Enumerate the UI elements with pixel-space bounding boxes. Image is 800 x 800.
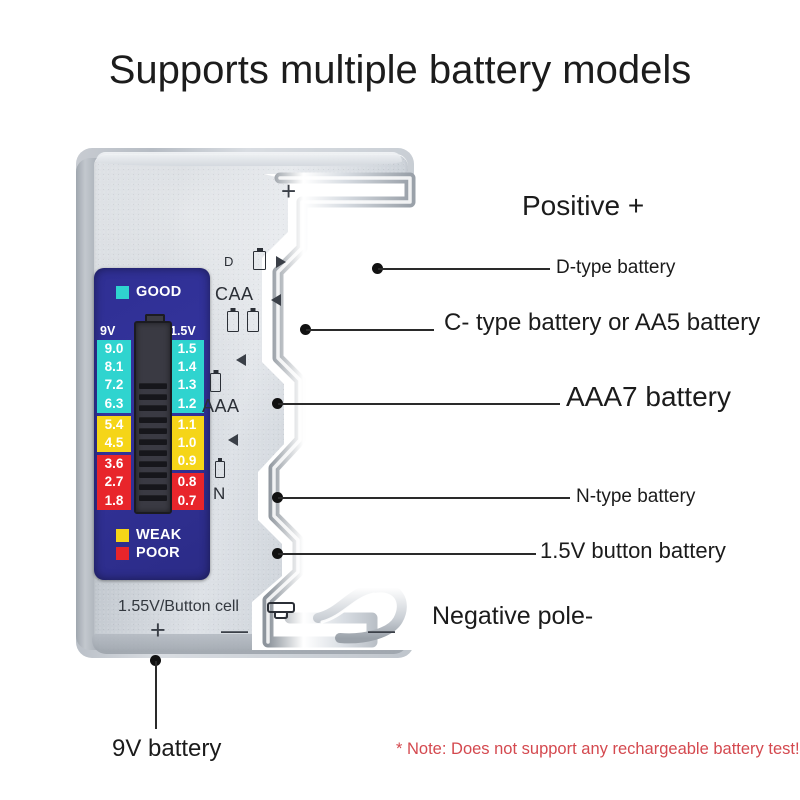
legend-weak-swatch xyxy=(116,529,129,542)
scale-tick: 6.3 xyxy=(97,395,131,413)
slot-label-caa: CAA xyxy=(215,284,254,305)
voltage-scale-1v5: 1.5 1.4 1.3 1.2 1.1 1.0 0.9 0.8 0.7 xyxy=(170,340,204,510)
callout-c-type: C- type battery or AA5 battery xyxy=(444,309,760,337)
leader-line-d-type xyxy=(378,268,550,270)
scale-tick: 8.1 xyxy=(97,358,131,376)
leader-line-n-type xyxy=(278,497,570,499)
scale-tick: 1.5 xyxy=(170,340,204,358)
callout-9v-battery: 9V battery xyxy=(112,735,221,763)
legend-weak: WEAK xyxy=(116,527,182,543)
callout-d-type: D-type battery xyxy=(556,257,675,279)
battery-icon-body xyxy=(210,373,221,392)
legend-good-swatch xyxy=(116,286,129,299)
gauge-segment xyxy=(139,383,167,389)
gauge-segment xyxy=(139,372,167,378)
gauge-segment xyxy=(139,405,167,411)
scale-tick: 1.2 xyxy=(170,395,204,413)
caa-battery-icon-1 xyxy=(227,308,239,332)
page-title: Supports multiple battery models xyxy=(0,48,800,93)
legend-poor-swatch xyxy=(116,547,129,560)
insert-arrow-left-icon-n xyxy=(228,434,238,446)
gauge-segment xyxy=(139,394,167,400)
legend-weak-label: WEAK xyxy=(136,527,182,543)
gauge-segment xyxy=(139,472,167,478)
lcd-display: GOOD 9V 1.5V 9.0 8.1 7.2 6.3 5.4 4.5 3.6… xyxy=(94,268,210,580)
scale-tick: 1.0 xyxy=(170,434,204,452)
gauge-segment xyxy=(139,439,167,445)
button-cell-marking: 1.55V/Button cell xyxy=(118,598,239,616)
legend-good-label: GOOD xyxy=(136,284,182,300)
scale-tick: 1.8 xyxy=(97,492,131,510)
legend-poor: POOR xyxy=(116,545,180,561)
slot-label-aaa: AAA xyxy=(202,396,240,417)
scale-header-9v: 9V xyxy=(100,324,115,338)
legend-poor-label: POOR xyxy=(136,545,180,561)
battery-icon-body xyxy=(227,311,239,332)
polarity-plus-top-marking: + xyxy=(281,176,296,207)
scale-tick: 5.4 xyxy=(97,416,131,434)
gauge-segment xyxy=(139,484,167,490)
voltage-scale-9v: 9.0 8.1 7.2 6.3 5.4 4.5 3.6 2.7 1.8 xyxy=(97,340,131,510)
scale-tick: 0.9 xyxy=(170,452,204,470)
slot-label-n: N xyxy=(213,484,225,504)
lcd-battery-gauge-icon xyxy=(134,314,172,514)
battery-contact-arm xyxy=(222,172,422,652)
scale-tick: 1.1 xyxy=(170,416,204,434)
scale-tick: 0.8 xyxy=(170,473,204,491)
polarity-plus-bottom-marking: + xyxy=(150,615,166,646)
polarity-minus-right-marking: — xyxy=(368,615,395,646)
diagram-canvas: Supports multiple battery models xyxy=(0,0,800,800)
aaa-battery-icon xyxy=(210,370,221,392)
gauge-segment xyxy=(139,349,167,355)
legend-good: GOOD xyxy=(116,284,182,300)
gauge-segment xyxy=(139,361,167,367)
gauge-segment xyxy=(139,327,167,333)
scale-tick: 1.3 xyxy=(170,376,204,394)
caa-battery-icon-2 xyxy=(247,308,259,332)
callout-negative-pole: Negative pole- xyxy=(432,602,593,631)
scale-tick: 0.7 xyxy=(170,492,204,510)
scale-tick: 2.7 xyxy=(97,473,131,491)
gauge-segment xyxy=(139,450,167,456)
insert-arrow-right-icon xyxy=(276,256,286,268)
callout-aaa7: AAA7 battery xyxy=(566,381,731,413)
n-battery-icon xyxy=(215,458,225,478)
leader-line-c-type xyxy=(306,329,434,331)
gauge-segment xyxy=(139,461,167,467)
scale-tick: 7.2 xyxy=(97,376,131,394)
battery-icon-body xyxy=(215,461,225,478)
callout-n-type: N-type battery xyxy=(576,486,695,508)
callout-button-15v: 1.5V button battery xyxy=(540,538,726,564)
polarity-minus-bottom-marking: — xyxy=(221,615,248,646)
battery-icon-body xyxy=(247,311,259,332)
leader-line-aaa7 xyxy=(278,403,560,405)
gauge-segment xyxy=(139,417,167,423)
insert-arrow-left-icon-caa xyxy=(271,294,281,306)
leader-line-button15 xyxy=(278,553,536,555)
gauge-segment xyxy=(139,495,167,501)
battery-icon-body xyxy=(253,251,266,270)
d-battery-icon xyxy=(253,248,266,270)
scale-tick: 4.5 xyxy=(97,434,131,452)
scale-header-1v5: 1.5V xyxy=(170,324,196,338)
button-cell-icon xyxy=(266,600,296,622)
gauge-segment xyxy=(139,428,167,434)
disclaimer-note: * Note: Does not support any rechargeabl… xyxy=(396,740,800,759)
device-top-highlight xyxy=(96,152,402,166)
slot-label-d: D xyxy=(224,254,233,269)
leader-line-9v xyxy=(155,661,157,729)
scale-tick: 1.4 xyxy=(170,358,204,376)
gauge-segment xyxy=(139,338,167,344)
scale-tick: 9.0 xyxy=(97,340,131,358)
insert-arrow-left-icon-aaa xyxy=(236,354,246,366)
callout-positive: Positive + xyxy=(522,190,644,222)
scale-tick: 3.6 xyxy=(97,455,131,473)
lcd-battery-body xyxy=(134,321,172,514)
